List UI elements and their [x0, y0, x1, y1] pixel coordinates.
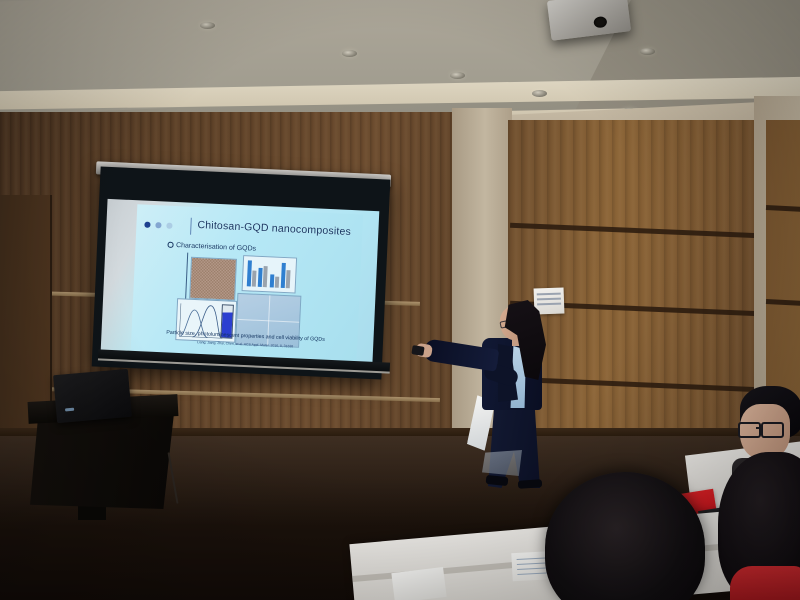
slide-dot-icon: [166, 223, 172, 229]
bar: [263, 266, 268, 287]
presenter-shoe: [518, 479, 542, 489]
presentation-clicker[interactable]: [411, 345, 424, 356]
slide-dot-icon: [144, 222, 150, 228]
slide-dot-group: [144, 221, 190, 231]
glasses-icon: [738, 422, 782, 435]
slide-bullet-label: Characterisation of GQDs: [176, 242, 256, 253]
downlight-icon: [200, 22, 215, 29]
presenter: [432, 300, 582, 485]
far-right-wood-wall: [766, 120, 800, 420]
presentation-slide: Chitosan-GQD nanocomposites Characterisa…: [131, 204, 363, 362]
bullet-circle-icon: [167, 242, 173, 248]
attendee-red-garment: [730, 566, 800, 600]
floor-bag: [482, 450, 522, 476]
laptop[interactable]: [53, 369, 132, 423]
bar: [275, 277, 279, 288]
bar: [286, 270, 291, 288]
handout-paper[interactable]: [391, 567, 446, 600]
downlight-icon: [342, 50, 357, 57]
slide-title: Chitosan-GQD nanocomposites: [197, 219, 351, 238]
tem-micrograph-figure: [189, 257, 237, 301]
conference-room-scene: Chitosan-GQD nanocomposites Characterisa…: [0, 0, 800, 600]
downlight-icon: [532, 90, 547, 97]
slide-title-divider: [190, 218, 192, 235]
slide-bullet-item: Characterisation of GQDs: [167, 242, 256, 253]
bar: [252, 271, 257, 287]
slide-dot-icon: [155, 222, 161, 228]
downlight-icon: [640, 48, 655, 55]
downlight-icon: [450, 72, 465, 79]
projection-screen-surface[interactable]: Chitosan-GQD nanocomposites Characterisa…: [101, 199, 380, 363]
bar-chart-figure: [242, 255, 298, 293]
bar: [270, 274, 275, 287]
laptop-indicator-icon: [65, 408, 74, 412]
